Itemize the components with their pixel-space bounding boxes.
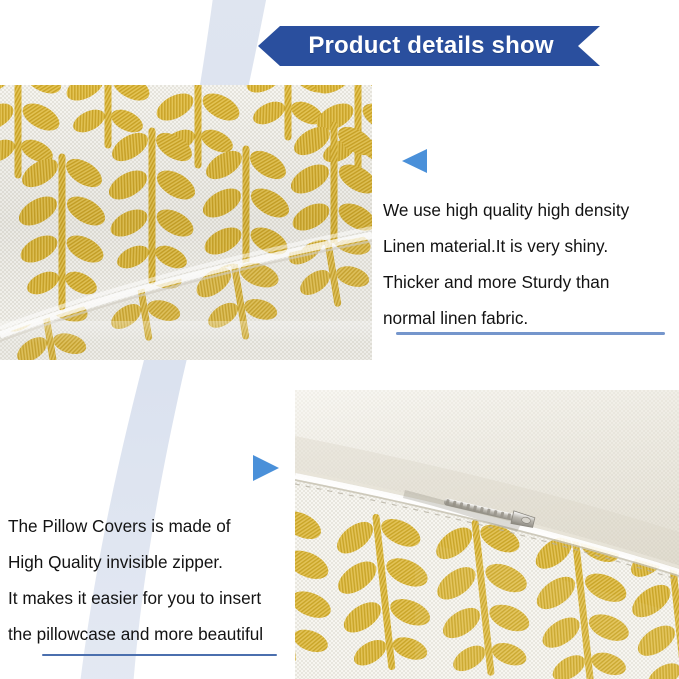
zipper-line-1: The Pillow Covers is made of [8,508,263,544]
material-line-3: Thicker and more Sturdy than [383,264,629,300]
material-line-4: normal linen fabric. [383,300,629,336]
zipper-description-text: The Pillow Covers is made of High Qualit… [8,508,263,652]
section-banner: Product details show [258,26,600,66]
zipper-line-2: High Quality invisible zipper. [8,544,263,580]
material-description-text: We use high quality high density Linen m… [383,192,629,336]
invisible-zipper-photo [295,390,679,679]
banner-title: Product details show [258,26,600,66]
left-pointing-triangle-icon [399,146,429,176]
material-line-1: We use high quality high density [383,192,629,228]
folded-linen-fabric-photo [0,85,372,360]
zipper-divider-rule [42,654,277,656]
zipper-line-4: the pillowcase and more beautiful [8,616,263,652]
right-pointing-triangle-icon [249,452,281,484]
product-details-image: Product details show [0,0,679,679]
material-divider-rule [396,332,665,335]
zipper-line-3: It makes it easier for you to insert [8,580,263,616]
material-line-2: Linen material.It is very shiny. [383,228,629,264]
